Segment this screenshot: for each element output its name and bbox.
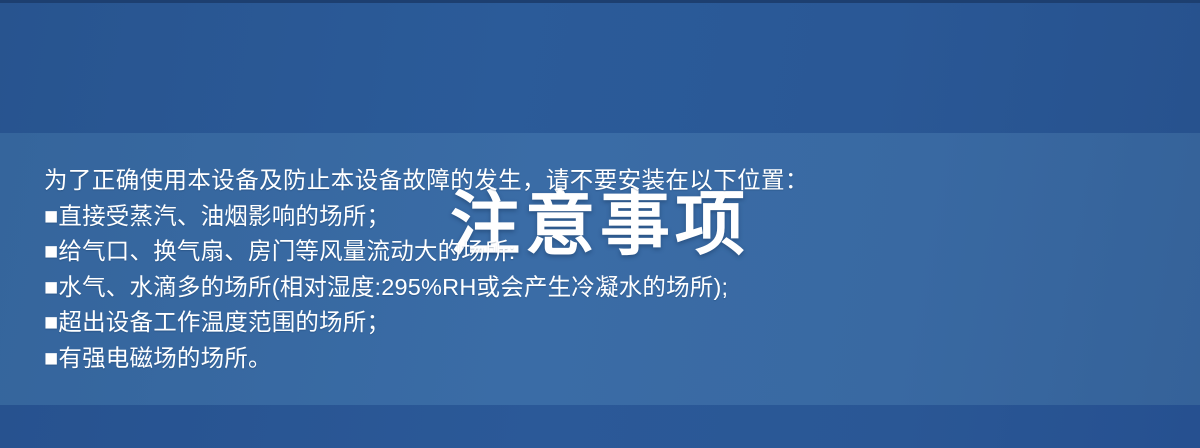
notice-text-block: 为了正确使用本设备及防止本设备故障的发生，请不要安装在以下位置： ■直接受蒸汽、… [44, 163, 809, 376]
notice-intro-line: 为了正确使用本设备及防止本设备故障的发生，请不要安装在以下位置： [44, 163, 809, 199]
notice-poster: 注意事项 为了正确使用本设备及防止本设备故障的发生，请不要安装在以下位置： ■直… [0, 0, 1200, 448]
notice-item-5: ■有强电磁场的场所。 [44, 341, 809, 377]
header-band [0, 0, 1200, 133]
top-hairline-rule [0, 0, 1200, 3]
notice-item-1: ■直接受蒸汽、油烟影响的场所； [44, 199, 809, 235]
notice-item-4: ■超出设备工作温度范围的场所； [44, 305, 809, 341]
notice-item-2: ■给气口、换气扇、房门等风量流动大的场所: [44, 234, 809, 270]
notice-item-3: ■水气、水滴多的场所(相对湿度:295%RH或会产生冷凝水的场所); [44, 270, 809, 306]
footer-band [0, 405, 1200, 448]
